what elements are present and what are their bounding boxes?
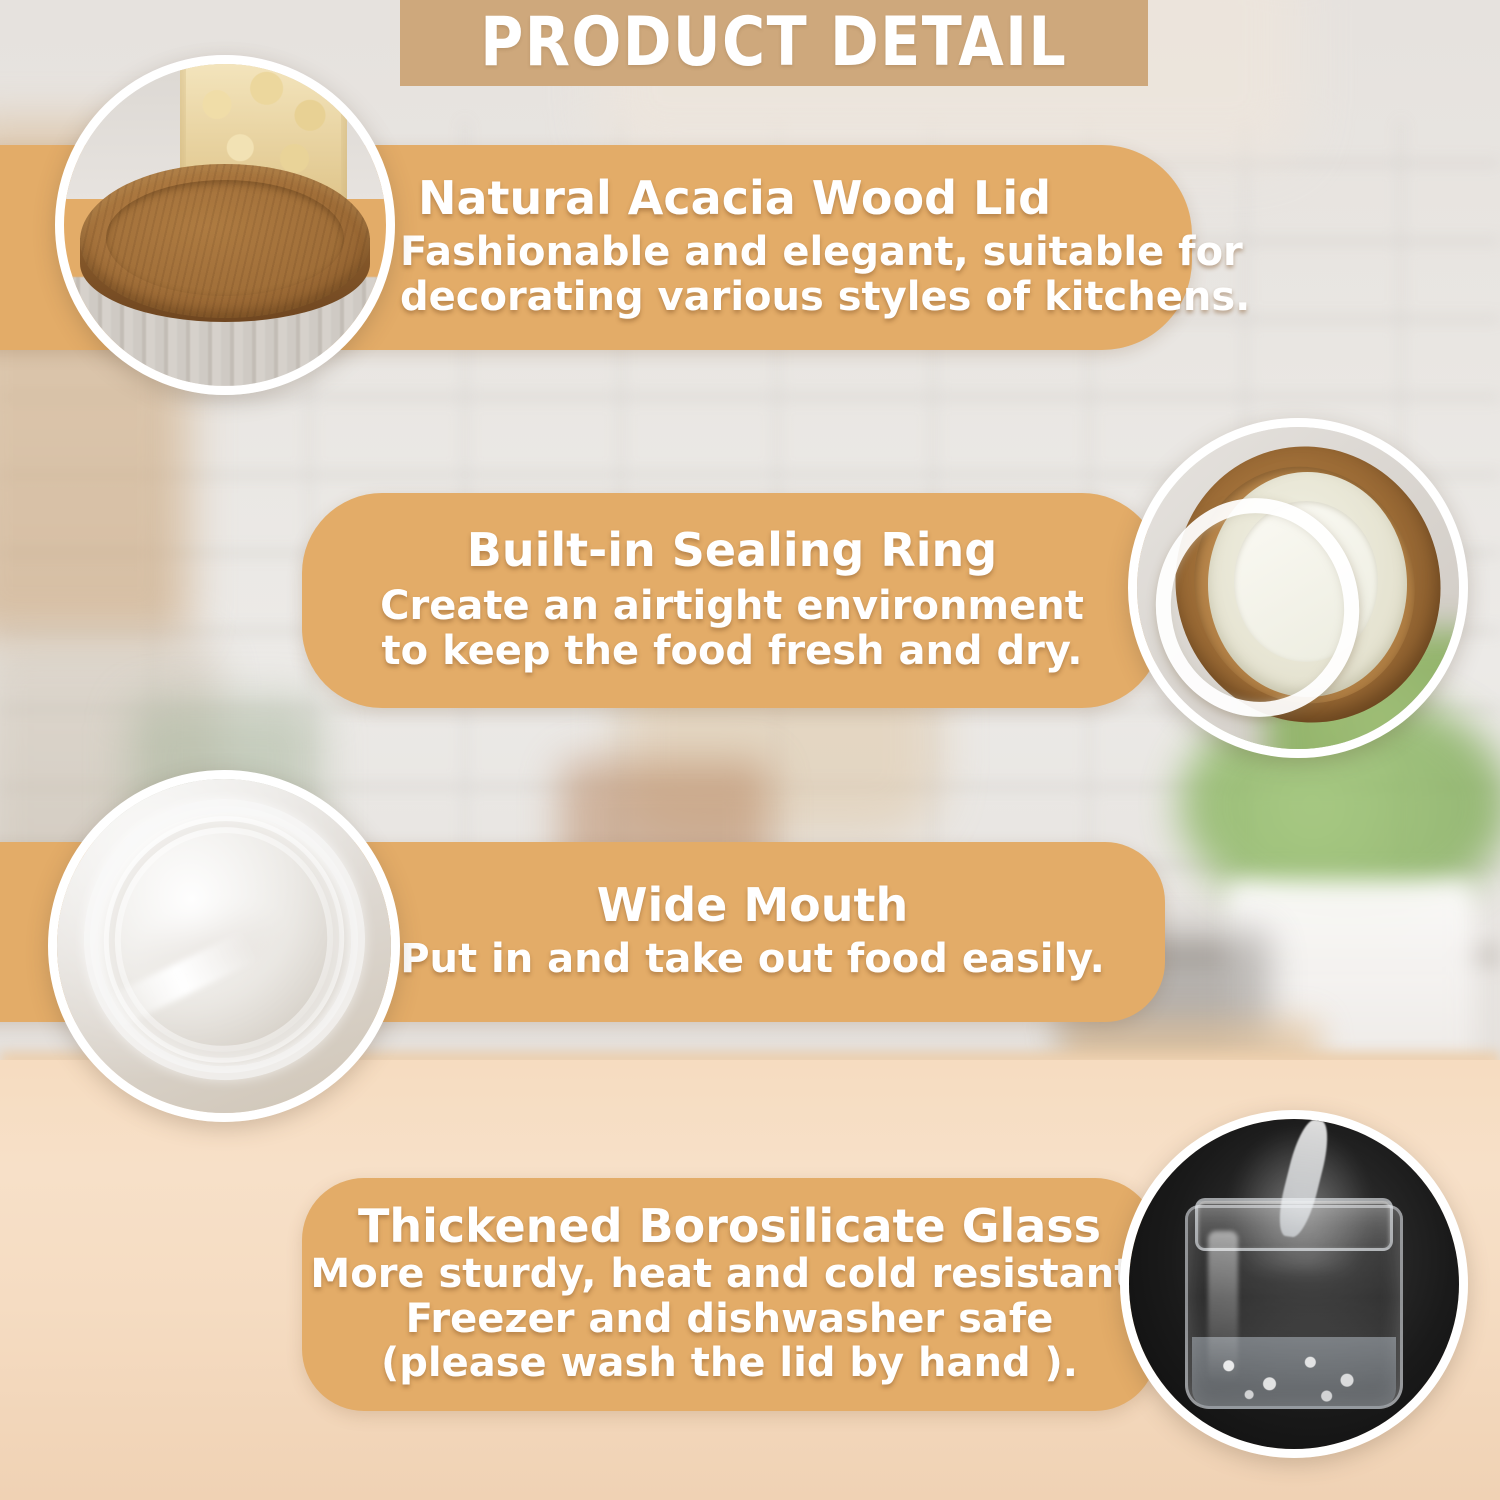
feature-banner-borosilicate-glass: Thickened Borosilicate Glass More sturdy…	[302, 1178, 1157, 1411]
sealing-ring-photo-inner	[1137, 427, 1459, 749]
page-title: PRODUCT DETAIL	[480, 9, 1067, 77]
borosilicate-glass-photo-inner	[1129, 1119, 1459, 1449]
feature-banner-sealing-ring: Built-in Sealing Ring Create an airtight…	[302, 493, 1162, 708]
feature-line-sealing-ring-2: to keep the food fresh and dry.	[382, 629, 1083, 674]
feature-heading-wide-mouth: Wide Mouth	[597, 882, 909, 929]
feature-line-wide-mouth-1: Put in and take out food easily.	[400, 937, 1105, 982]
wide-mouth-photo-inner	[57, 779, 391, 1113]
borosilicate-glass-photo	[1120, 1110, 1468, 1458]
acacia-wood-lid-photo	[55, 55, 395, 395]
feature-heading-acacia-lid: Natural Acacia Wood Lid	[418, 175, 1051, 222]
sealing-ring-photo	[1128, 418, 1468, 758]
photo4-glass-sheen	[1208, 1231, 1238, 1383]
feature-line-acacia-lid-1: Fashionable and elegant, suitable for	[400, 230, 1243, 275]
photo1-wood-grain	[80, 164, 370, 319]
feature-line-acacia-lid-2: decorating various styles of kitchens.	[400, 275, 1250, 320]
page-title-banner: PRODUCT DETAIL	[400, 0, 1148, 86]
feature-line-borosilicate-glass-2: Freezer and dishwasher safe	[406, 1297, 1054, 1342]
wide-mouth-photo	[48, 770, 400, 1122]
acacia-wood-lid-photo-inner	[64, 64, 386, 386]
feature-line-borosilicate-glass-3: (please wash the lid by hand ).	[381, 1341, 1078, 1386]
feature-line-sealing-ring-1: Create an airtight environment	[380, 584, 1084, 629]
feature-line-borosilicate-glass-1: More sturdy, heat and cold resistant.	[310, 1252, 1148, 1297]
feature-heading-borosilicate-glass: Thickened Borosilicate Glass	[358, 1203, 1101, 1250]
feature-heading-sealing-ring: Built-in Sealing Ring	[467, 527, 997, 574]
